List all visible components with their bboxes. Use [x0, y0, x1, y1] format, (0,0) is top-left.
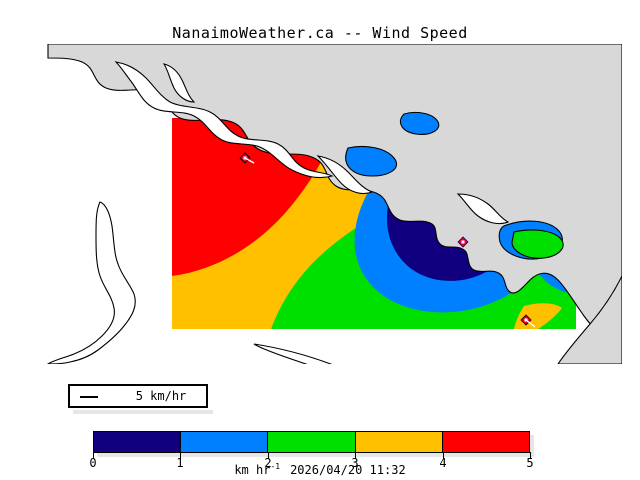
colorbar-container — [93, 431, 530, 453]
map-plot-area[interactable] — [18, 44, 622, 364]
colorbar-band-4-5 — [443, 432, 529, 452]
units-base: km hr — [234, 463, 270, 477]
scale-legend-shadow — [73, 410, 213, 414]
wind-scale-legend: 5 km/hr — [68, 384, 208, 408]
wind-vector-arrow-icon — [80, 396, 98, 398]
colorbar-band-0-1 — [94, 432, 181, 452]
scale-legend-label: 5 km/hr — [116, 389, 206, 403]
units-and-timestamp: km hr-12026/04/20 11:32 — [0, 462, 640, 477]
wind-speed-map-page: NanaimoWeather.ca -- Wind Speed — [0, 0, 640, 480]
page-title: NanaimoWeather.ca -- Wind Speed — [0, 24, 640, 42]
colorbar — [93, 431, 530, 453]
timestamp: 2026/04/20 11:32 — [290, 463, 406, 477]
colorbar-band-3-4 — [356, 432, 443, 452]
units-exponent: -1 — [270, 462, 280, 471]
map-svg — [18, 44, 622, 364]
colorbar-band-1-2 — [181, 432, 268, 452]
colorbar-band-2-3 — [268, 432, 355, 452]
